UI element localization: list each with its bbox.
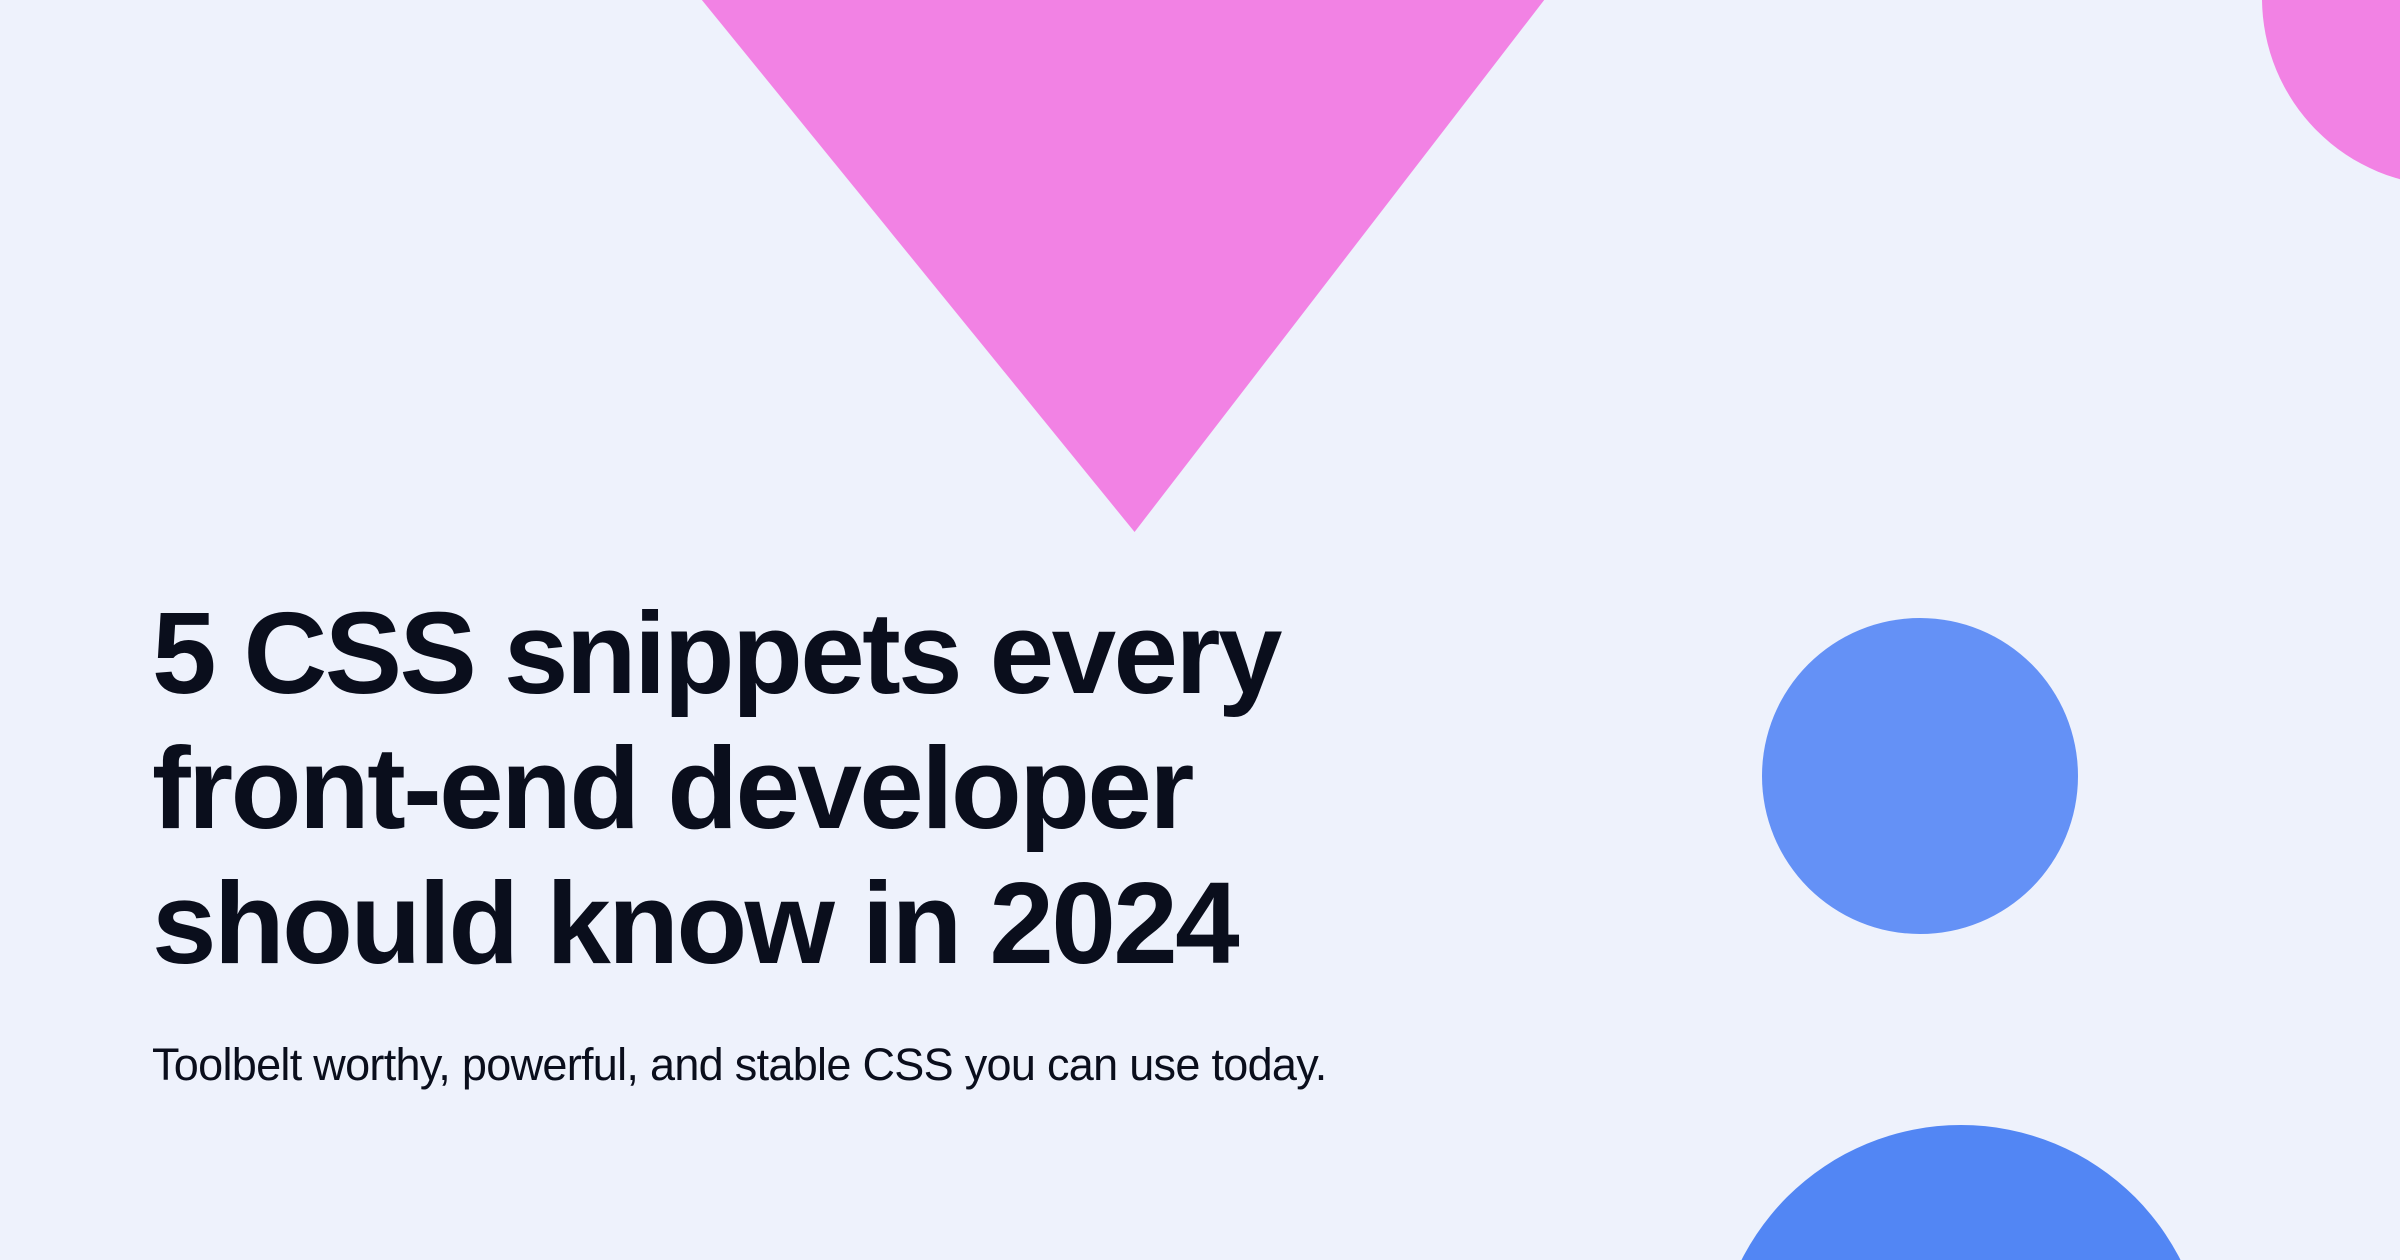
blue-circle-upper-shape <box>1762 618 2078 934</box>
page-subtitle: Toolbelt worthy, powerful, and stable CS… <box>152 991 1442 1093</box>
pink-triangle-shape <box>560 0 1680 532</box>
hero-banner: 5 CSS snippets every front-end developer… <box>0 0 2400 1260</box>
blue-circle-lower-shape <box>1715 1125 2207 1260</box>
page-title: 5 CSS snippets every front-end developer… <box>152 586 1442 991</box>
pink-circle-corner-shape <box>2262 0 2400 186</box>
hero-content: 5 CSS snippets every front-end developer… <box>152 586 1442 1093</box>
